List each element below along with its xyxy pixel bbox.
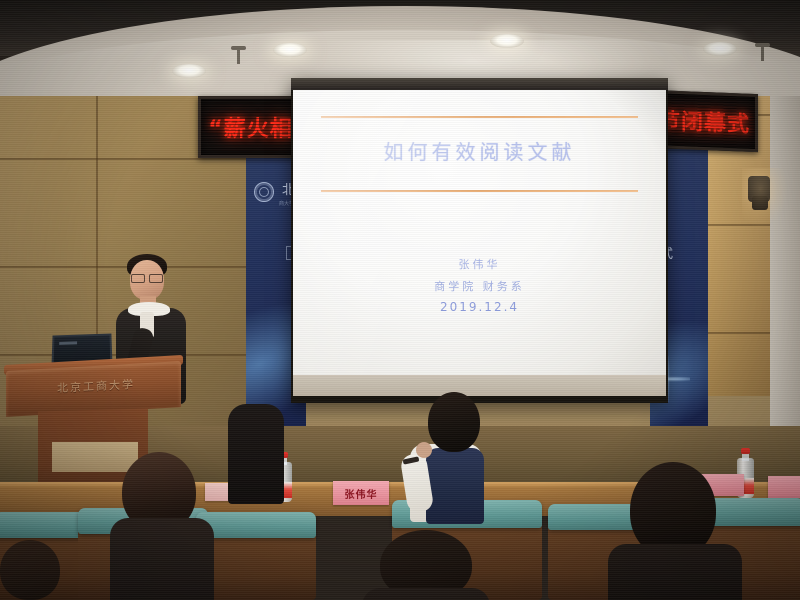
ceiling-hanger [237, 48, 240, 64]
slide-presenter-name: 张伟华 [293, 256, 666, 272]
name-card-text: 张伟华 [345, 486, 378, 501]
audience-vest [426, 448, 484, 524]
audience-head [0, 540, 60, 600]
audience-torso [110, 518, 214, 600]
downlight-icon [703, 42, 737, 56]
led-marquee-left: “薪火相 [198, 96, 303, 158]
name-card: 张伟华 [333, 481, 389, 505]
downlight-icon [490, 34, 524, 48]
slide-rule-top [321, 116, 638, 118]
slide-title: 如何有效阅读文献 [293, 136, 666, 165]
audience-torso [228, 404, 284, 504]
name-card [768, 476, 800, 498]
downlight-icon [273, 43, 307, 57]
presentation-slide: 如何有效阅读文献 张伟华 商学院 财务系 2019.12.4 [293, 90, 666, 375]
downlight-icon [172, 64, 206, 78]
seat-cushion[interactable] [196, 512, 316, 538]
audience-member-vest [404, 392, 504, 532]
slide-date: 2019.12.4 [293, 300, 666, 314]
slide-department: 商学院 财务系 [293, 278, 666, 294]
screen-top-bar [291, 78, 668, 90]
screen-surface: 如何有效阅读文献 张伟华 商学院 财务系 2019.12.4 [293, 90, 666, 375]
lectern-plate [52, 442, 138, 472]
audience-hand [416, 442, 432, 458]
ceiling-hanger [761, 45, 764, 61]
audience-torso [608, 544, 742, 600]
university-seal-icon [254, 182, 274, 202]
laptop-screen-glint [59, 341, 77, 345]
led-right-text: 节闭幕式 [658, 103, 750, 139]
glasses-icon [131, 274, 163, 281]
wall-plaster-right [770, 96, 800, 426]
slide-rule-bottom [321, 190, 638, 192]
lecture-hall-photo: 北 商大学 式 “薪火相 节闭幕式 如何有效阅读文献 张伟华 商学院 财务系 2… [0, 0, 800, 600]
wall-speaker-glow [742, 168, 788, 228]
led-left-text: “薪火相 [208, 111, 292, 143]
audience-head [428, 392, 480, 452]
audience-torso [362, 588, 490, 600]
projection-screen: 如何有效阅读文献 张伟华 商学院 财务系 2019.12.4 [291, 78, 668, 403]
